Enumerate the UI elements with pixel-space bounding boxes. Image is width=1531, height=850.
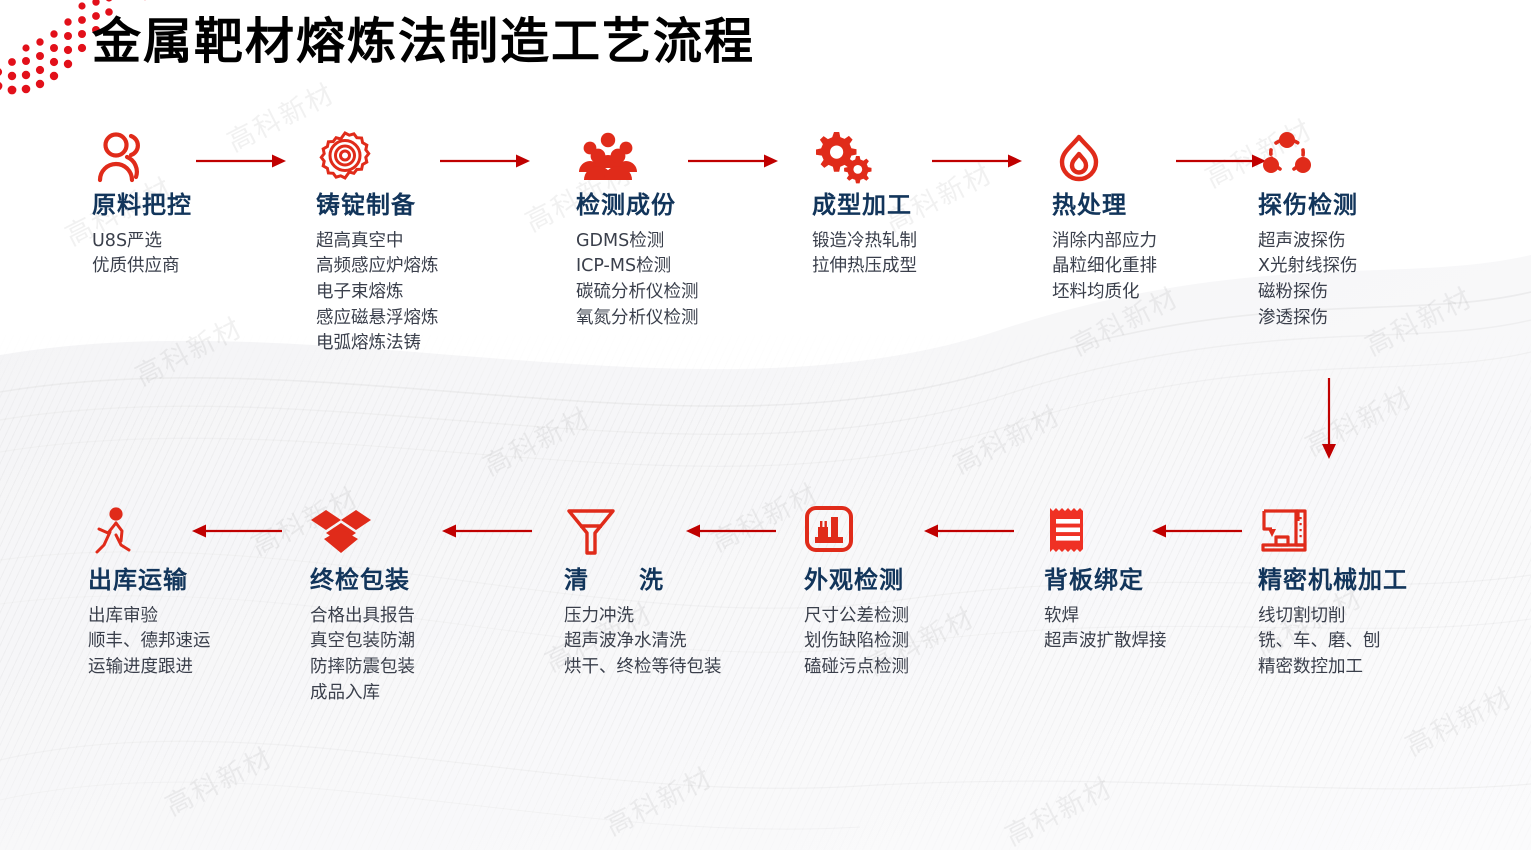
step-item-list: GDMS检测 ICP-MS检测 碳硫分析仪检测 氧氮分析仪检测 (576, 229, 791, 332)
step-title: 出库运输 (88, 567, 303, 595)
step-title: 原料把控 (92, 192, 307, 220)
step-item-list: 超高真空中 高频感应炉熔炼 电子束熔炼 感应磁悬浮熔炼 电弧熔炼法铸 (316, 229, 531, 358)
step-title: 精密机械加工 (1258, 567, 1473, 595)
step-title: 清 洗 (564, 567, 742, 595)
list-item: 软焊 (1044, 604, 1259, 630)
arrow-down-connector (1320, 378, 1338, 460)
list-item: 顺丰、德邦速运 (88, 629, 303, 655)
list-item: 真空包装防潮 (310, 629, 525, 655)
list-item: 超声波探伤 (1258, 229, 1473, 255)
list-item: 磕碰污点检测 (804, 655, 1019, 681)
watermark: 高科新材 (1397, 676, 1518, 763)
page-title: 金属靶材熔炼法制造工艺流程 (92, 2, 755, 73)
list-item: 优质供应商 (92, 254, 307, 280)
arrow-left-2 (442, 522, 532, 540)
list-item: ICP-MS检测 (576, 254, 791, 280)
step-title: 背板绑定 (1044, 567, 1259, 595)
step-item-list: 合格出具报告 真空包装防潮 防摔防震包装 成品入库 (310, 604, 525, 707)
list-item: 坯料均质化 (1052, 280, 1267, 306)
list-item: 超声波净水清洗 (564, 629, 742, 655)
step-item-list: 软焊 超声波扩散焊接 (1044, 604, 1259, 655)
step-title: 探伤检测 (1258, 192, 1473, 220)
slide-canvas: 高科新材 高科新材 高科新材 高科新材 高科新材 高科新材 高科新材 高科新材 … (0, 0, 1531, 850)
list-item: U8S严选 (92, 229, 307, 255)
list-item: 超声波扩散焊接 (1044, 629, 1259, 655)
list-item: 超高真空中 (316, 229, 531, 255)
list-item: 消除内部应力 (1052, 229, 1267, 255)
watermark: 高科新材 (475, 396, 596, 483)
watermark: 高科新材 (597, 756, 718, 843)
step-title: 外观检测 (804, 567, 1019, 595)
arrow-left-4 (924, 522, 1014, 540)
watermark: 高科新材 (127, 306, 248, 393)
arrow-left-5 (1152, 522, 1242, 540)
arrow-right-4 (932, 152, 1022, 170)
step-title: 成型加工 (812, 192, 1027, 220)
list-item: 尺寸公差检测 (804, 604, 1019, 630)
cnc-machine-icon (1258, 505, 1473, 561)
step-item-list: U8S严选 优质供应商 (92, 229, 307, 280)
list-item: 渗透探伤 (1258, 306, 1473, 332)
step-item-list: 锻造冷热轧制 拉伸热压成型 (812, 229, 1027, 280)
step-title: 检测成份 (576, 192, 791, 220)
step-title: 铸锭制备 (316, 192, 531, 220)
step-precision-machining[interactable]: 精密机械加工 线切割切削 铣、车、磨、刨 精密数控加工 (1258, 505, 1473, 681)
list-item: 拉伸热压成型 (812, 254, 1027, 280)
step-item-list: 消除内部应力 晶粒细化重排 坯料均质化 (1052, 229, 1267, 306)
list-item: 合格出具报告 (310, 604, 525, 630)
background-swoosh (0, 0, 1531, 850)
list-item: 电弧熔炼法铸 (316, 331, 531, 357)
step-item-list: 超声波探伤 X光射线探伤 磁粉探伤 渗透探伤 (1258, 229, 1473, 332)
list-item: 划伤缺陷检测 (804, 629, 1019, 655)
list-item: 晶粒细化重排 (1052, 254, 1267, 280)
list-item: 精密数控加工 (1258, 655, 1473, 681)
arrow-right-2 (440, 152, 530, 170)
list-item: GDMS检测 (576, 229, 791, 255)
list-item: 感应磁悬浮熔炼 (316, 306, 531, 332)
background-decoration: 高科新材 高科新材 高科新材 高科新材 高科新材 高科新材 高科新材 高科新材 … (0, 0, 1531, 850)
arrow-right-3 (688, 152, 778, 170)
list-item: 成品入库 (310, 681, 525, 707)
step-flaw-detection[interactable]: 探伤检测 超声波探伤 X光射线探伤 磁粉探伤 渗透探伤 (1258, 130, 1473, 331)
step-item-list: 压力冲洗 超声波净水清洗 烘干、终检等待包装 (564, 604, 742, 681)
arrow-right-1 (196, 152, 286, 170)
list-item: 碳硫分析仪检测 (576, 280, 791, 306)
list-item: 压力冲洗 (564, 604, 742, 630)
step-item-list: 线切割切削 铣、车、磨、刨 精密数控加工 (1258, 604, 1473, 681)
list-item: 烘干、终检等待包装 (564, 655, 742, 681)
list-item: 出库审验 (88, 604, 303, 630)
list-item: 磁粉探伤 (1258, 280, 1473, 306)
step-item-list: 出库审验 顺丰、德邦速运 运输进度跟进 (88, 604, 303, 681)
arrow-left-1 (192, 522, 282, 540)
watermark: 高科新材 (157, 736, 278, 823)
list-item: 高频感应炉熔炼 (316, 254, 531, 280)
list-item: 线切割切削 (1258, 604, 1473, 630)
watermark: 高科新材 (945, 394, 1066, 481)
arrow-right-5 (1176, 152, 1266, 170)
share-nodes-icon (1258, 130, 1473, 186)
list-item: X光射线探伤 (1258, 254, 1473, 280)
step-title: 热处理 (1052, 192, 1267, 220)
list-item: 锻造冷热轧制 (812, 229, 1027, 255)
watermark: 高科新材 (997, 766, 1118, 850)
list-item: 铣、车、磨、刨 (1258, 629, 1473, 655)
list-item: 氧氮分析仪检测 (576, 306, 791, 332)
arrow-left-3 (686, 522, 776, 540)
list-item: 防摔防震包装 (310, 655, 525, 681)
watermark: 高科新材 (1297, 376, 1418, 463)
list-item: 运输进度跟进 (88, 655, 303, 681)
step-item-list: 尺寸公差检测 划伤缺陷检测 磕碰污点检测 (804, 604, 1019, 681)
list-item: 电子束熔炼 (316, 280, 531, 306)
step-title: 终检包装 (310, 567, 525, 595)
